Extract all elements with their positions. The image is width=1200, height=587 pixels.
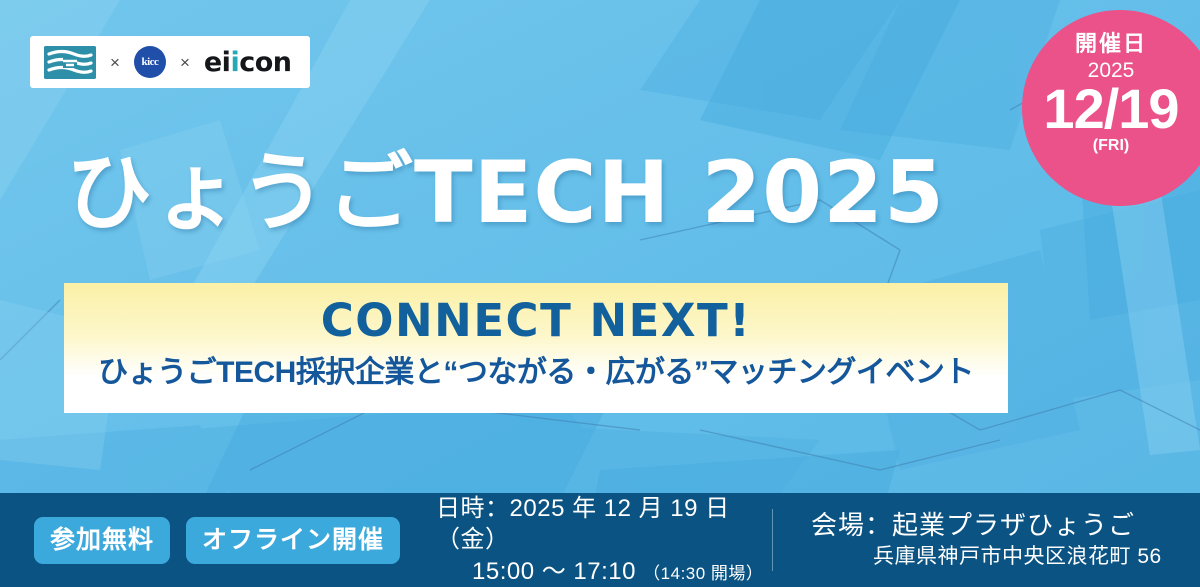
panel-subtitle: ひょうごTECH採択企業と“つながる・広がる”マッチングイベント <box>98 356 974 391</box>
badge-free-admission: 参加無料 <box>34 517 170 564</box>
footer-badges: 参加無料 オフライン開催 <box>0 517 400 564</box>
event-venue-info: 会場：起業プラザひょうご 兵庫県神戸市中央区浪花町 56 <box>775 509 1200 570</box>
kicc-logo-text: kicc <box>141 56 158 68</box>
date-badge-day: 12/19 <box>1043 82 1178 137</box>
event-title: ひょうごTECH 2025 <box>66 148 1016 238</box>
event-banner: × kicc × eiicon 開催日 2025 12/19 (FRI) ひょう… <box>0 0 1200 587</box>
hyogo-prefecture-logo-icon <box>44 46 96 79</box>
content-panel: CONNECT NEXT! ひょうごTECH採択企業と“つながる・広がる”マッチ… <box>64 283 1008 413</box>
footer-divider <box>772 509 773 571</box>
date-badge-heading: 開催日 <box>1075 32 1147 56</box>
datetime-line-1: 日時：2025 年 12 月 19 日（金） <box>436 493 770 556</box>
eiicon-logo-part2: i <box>230 47 239 78</box>
panel-headline: CONNECT NEXT! <box>321 296 752 346</box>
datetime-time: 15:00 〜 17:10 <box>472 558 643 585</box>
footer-bar: 参加無料 オフライン開催 日時：2025 年 12 月 19 日（金） 15:0… <box>0 493 1200 587</box>
event-datetime-info: 日時：2025 年 12 月 19 日（金） 15:00 〜 17:10 （14… <box>422 493 770 587</box>
eiicon-logo: eiicon <box>204 49 292 76</box>
badge-offline-event: オフライン開催 <box>186 517 400 564</box>
datetime-line-2: 15:00 〜 17:10 （14:30 開場） <box>436 556 770 587</box>
kicc-logo-icon: kicc <box>134 46 166 78</box>
venue-line-2: 兵庫県神戸市中央区浪花町 56 <box>811 543 1200 570</box>
times-separator-icon-1: × <box>110 54 120 71</box>
partner-logo-bar: × kicc × eiicon <box>30 36 310 88</box>
times-separator-icon-2: × <box>180 54 190 71</box>
eiicon-logo-part3: con <box>239 47 291 78</box>
eiicon-logo-part1: ei <box>204 47 231 78</box>
venue-line-1: 会場：起業プラザひょうご <box>811 509 1200 543</box>
date-badge-dayofweek: (FRI) <box>1093 138 1129 154</box>
datetime-doors-open: （14:30 開場） <box>643 564 763 583</box>
